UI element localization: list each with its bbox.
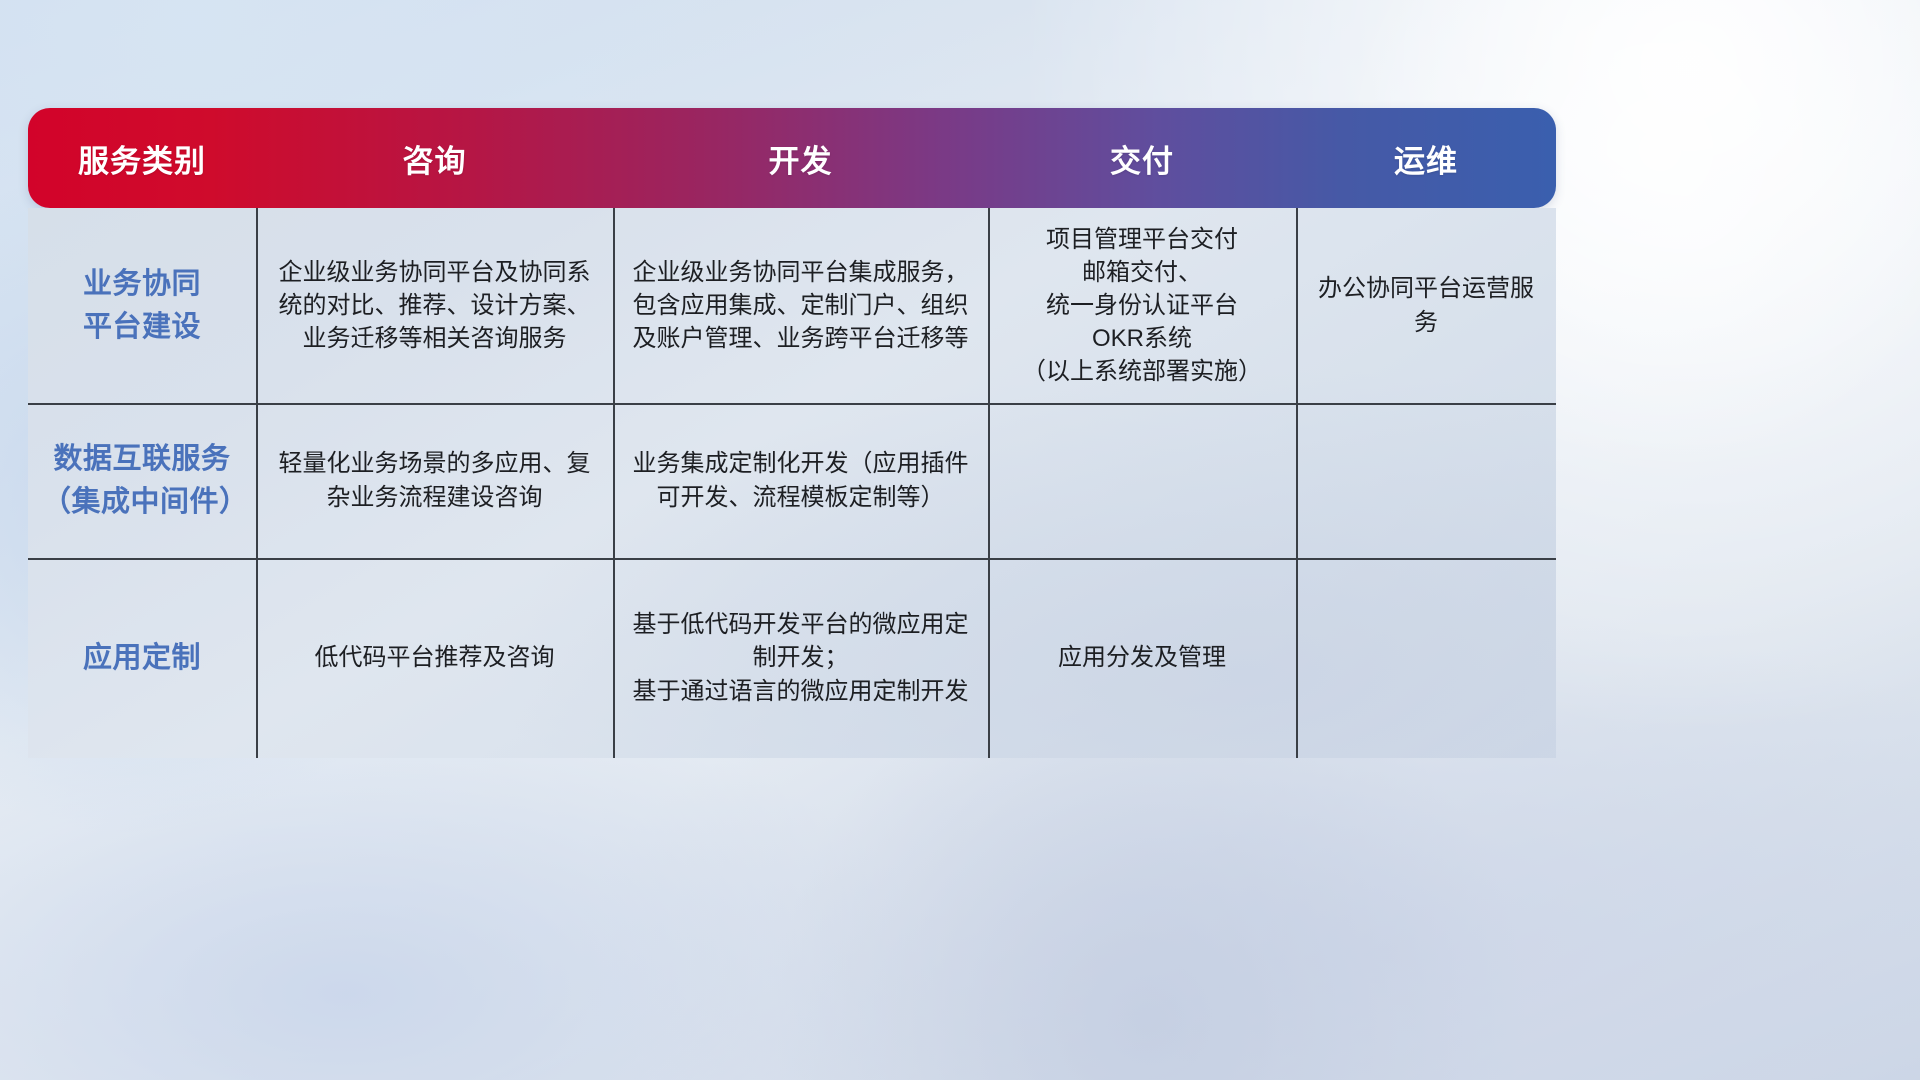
table-row: 应用定制 低代码平台推荐及咨询 基于低代码开发平台的微应用定 制开发； 基于通过… (28, 558, 1556, 758)
table-body: 业务协同 平台建设 企业级业务协同平台及协同系 统的对比、推荐、设计方案、 业务… (28, 208, 1556, 758)
cell-delivery (988, 403, 1296, 558)
cell-development: 企业级业务协同平台集成服务， 包含应用集成、定制门户、组织 及账户管理、业务跨平… (613, 208, 988, 403)
row-category-label: 应用定制 (28, 558, 256, 758)
column-header-development: 开发 (613, 108, 988, 208)
cell-development: 基于低代码开发平台的微应用定 制开发； 基于通过语言的微应用定制开发 (613, 558, 988, 758)
service-matrix-table: 服务类别 咨询 开发 交付 运维 业务协同 平台建设 企业级业务协同平台及协同系… (28, 108, 1556, 758)
cell-operations (1296, 558, 1556, 758)
row-category-label: 数据互联服务 （集成中间件） (28, 403, 256, 558)
cell-development: 业务集成定制化开发（应用插件 可开发、流程模板定制等） (613, 403, 988, 558)
table-row: 业务协同 平台建设 企业级业务协同平台及协同系 统的对比、推荐、设计方案、 业务… (28, 208, 1556, 403)
cell-consulting: 低代码平台推荐及咨询 (256, 558, 613, 758)
row-category-label: 业务协同 平台建设 (28, 208, 256, 403)
cell-operations (1296, 403, 1556, 558)
table-row: 数据互联服务 （集成中间件） 轻量化业务场景的多应用、复 杂业务流程建设咨询 业… (28, 403, 1556, 558)
column-header-category: 服务类别 (28, 108, 256, 208)
cell-consulting: 企业级业务协同平台及协同系 统的对比、推荐、设计方案、 业务迁移等相关咨询服务 (256, 208, 613, 403)
column-header-consulting: 咨询 (256, 108, 613, 208)
cell-delivery: 应用分发及管理 (988, 558, 1296, 758)
cell-consulting: 轻量化业务场景的多应用、复 杂业务流程建设咨询 (256, 403, 613, 558)
cell-delivery: 项目管理平台交付 邮箱交付、 统一身份认证平台 OKR系统 （以上系统部署实施） (988, 208, 1296, 403)
cell-operations: 办公协同平台运营服务 (1296, 208, 1556, 403)
column-header-delivery: 交付 (988, 108, 1296, 208)
table-header-row: 服务类别 咨询 开发 交付 运维 (28, 108, 1556, 208)
column-header-operations: 运维 (1296, 108, 1556, 208)
